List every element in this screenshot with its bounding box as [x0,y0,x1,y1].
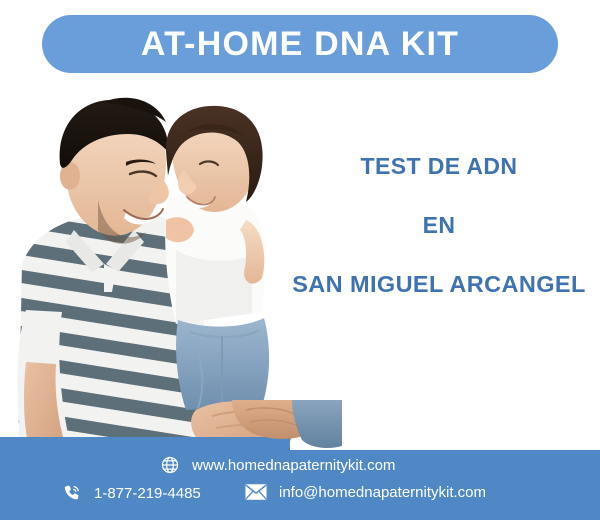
footer-website-label: www.homednapaternitykit.com [192,457,395,474]
footer-email-row[interactable]: info@homednapaternitykit.com [245,483,486,501]
headline-block: TEST DE ADN EN SAN MIGUEL ARCANGEL [286,155,592,297]
family-photo [0,80,310,460]
footer-website-row[interactable]: www.homednapaternitykit.com [160,455,395,475]
contact-footer: www.homednapaternitykit.com 1-877-219-44… [0,430,600,520]
headline-line-2: EN [286,214,592,237]
footer-phone-row[interactable]: 1-877-219-4485 [62,483,201,503]
header-badge-label: AT-HOME DNA KIT [141,27,459,61]
headline-line-3: SAN MIGUEL ARCANGEL [286,273,592,297]
globe-icon [160,455,180,475]
footer-email-label: info@homednapaternitykit.com [279,484,486,501]
promo-poster: AT-HOME DNA KIT [0,0,600,520]
headline-line-1: TEST DE ADN [286,155,592,178]
header-badge: AT-HOME DNA KIT [42,15,558,73]
footer-contact-rows: www.homednapaternitykit.com 1-877-219-44… [0,430,600,520]
envelope-icon [245,483,267,501]
footer-phone-label: 1-877-219-4485 [94,485,201,502]
phone-icon [62,483,82,503]
